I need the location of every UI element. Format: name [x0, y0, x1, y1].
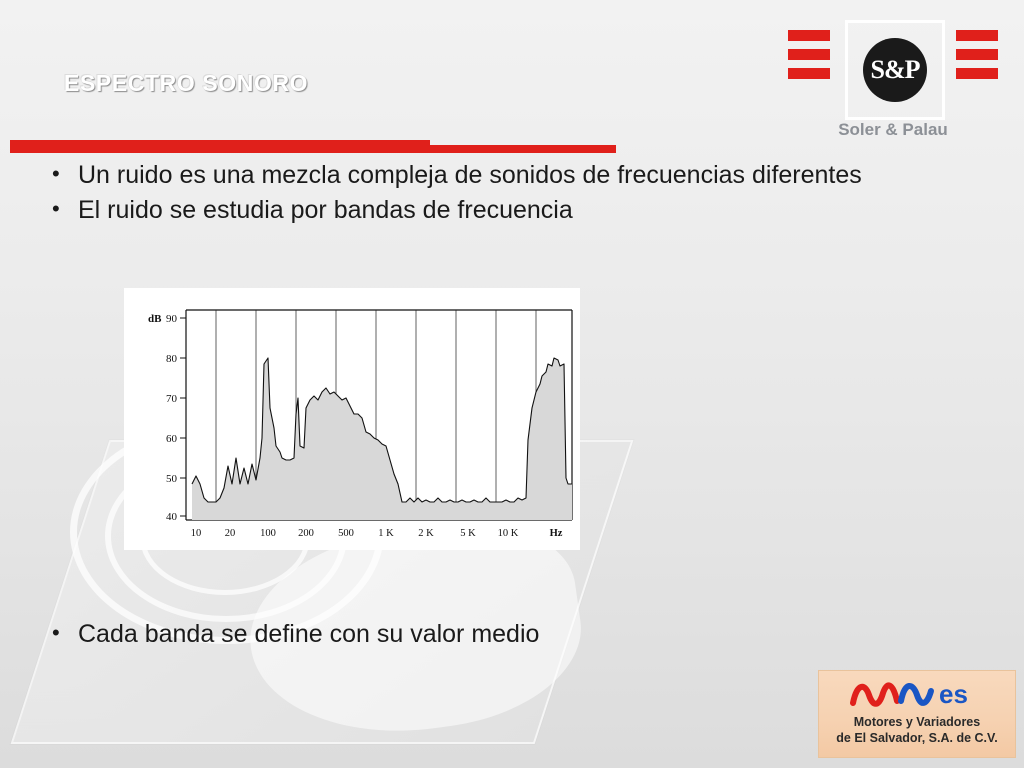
bullet-glyph: • [52, 195, 78, 224]
logo-bars-left [788, 30, 830, 87]
x-tick-label: 2 K [418, 528, 434, 539]
brand-logo: S&P Soler & Palau [788, 18, 998, 148]
slide: S&P Soler & Palau ESPECTRO SONORO • Un r… [0, 0, 1024, 768]
y-axis-label: dB [148, 313, 162, 325]
list-item: • Cada banda se define con su valor medi… [52, 620, 912, 649]
logo-bar [956, 68, 998, 79]
logo-square: S&P [845, 20, 945, 120]
bullet-glyph: • [52, 620, 78, 646]
spectrum-chart: 90 80 70 60 50 40 dB 10 20 100 200 500 1… [124, 288, 580, 550]
list-item: • Un ruido es una mezcla compleja de son… [52, 160, 912, 191]
bullet-glyph: • [52, 160, 78, 189]
footer-logo-mark: es [819, 673, 1015, 713]
x-axis-label: Hz [550, 528, 563, 539]
brand-name: Soler & Palau [788, 120, 998, 140]
x-tick-label: 1 K [378, 528, 394, 539]
x-tick-label: 10 K [498, 528, 519, 539]
x-tick-label: 5 K [460, 528, 476, 539]
chart-canvas: 90 80 70 60 50 40 dB 10 20 100 200 500 1… [124, 288, 580, 550]
title-divider-segment-left [10, 140, 430, 153]
footer-logo: es Motores y Variadores de El Salvador, … [818, 670, 1016, 758]
logo-bars-right [956, 30, 998, 87]
logo-bar [956, 49, 998, 60]
chart-svg: 90 80 70 60 50 40 dB 10 20 100 200 500 1… [124, 288, 580, 550]
y-tick-label: 60 [166, 433, 178, 445]
bullet-text: Un ruido es una mezcla compleja de sonid… [78, 160, 912, 191]
y-tick-label: 90 [166, 313, 178, 325]
y-tick-label: 80 [166, 353, 178, 365]
logo-bar [788, 68, 830, 79]
bullet-text: El ruido se estudia por bandas de frecue… [78, 195, 912, 226]
x-tick-label: 10 [191, 528, 202, 539]
x-tick-label: 200 [298, 528, 314, 539]
bullet-list: • Un ruido es una mezcla compleja de son… [52, 160, 912, 229]
page-title: ESPECTRO SONORO [64, 70, 308, 97]
title-divider [10, 140, 616, 153]
title-divider-segment-right [430, 145, 616, 153]
footer-logo-line2: de El Salvador, S.A. de C.V. [819, 731, 1015, 745]
list-item: • El ruido se estudia por bandas de frec… [52, 195, 912, 226]
logo-bar [788, 49, 830, 60]
x-tick-label: 20 [225, 528, 236, 539]
footer-logo-line1: Motores y Variadores [819, 715, 1015, 729]
y-tick-label: 50 [166, 473, 178, 485]
bullet-text: Cada banda se define con su valor medio [78, 620, 539, 649]
footer-logo-text: es [939, 679, 968, 709]
x-tick-label: 500 [338, 528, 354, 539]
logo-mark-text: S&P [863, 38, 927, 102]
y-tick-label: 70 [166, 393, 178, 405]
logo-bar [788, 30, 830, 41]
y-tick-label: 40 [166, 511, 178, 523]
x-tick-label: 100 [260, 528, 276, 539]
logo-bar [956, 30, 998, 41]
